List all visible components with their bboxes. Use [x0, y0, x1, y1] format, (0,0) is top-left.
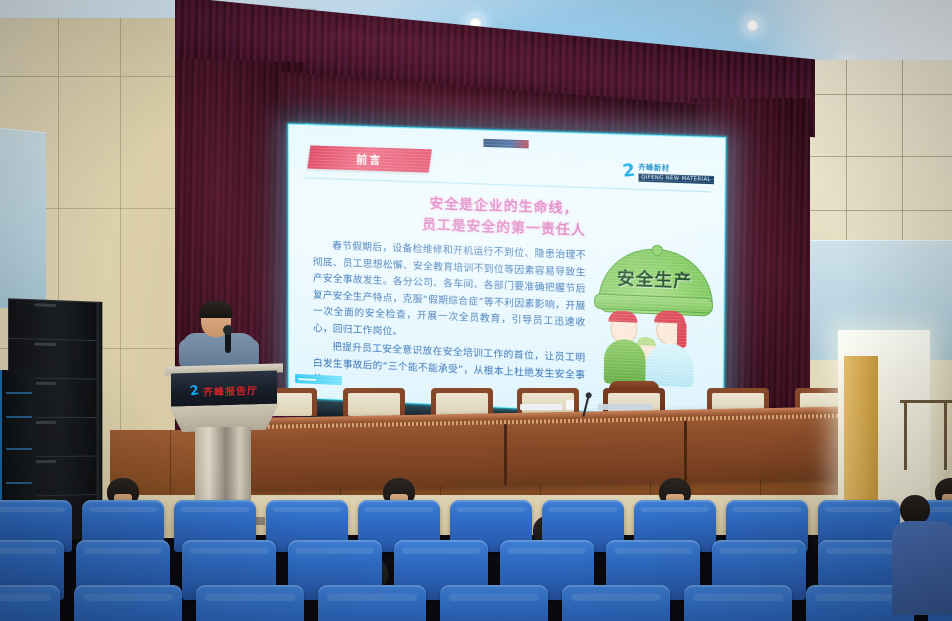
podium-label: 齐峰报告厅 — [203, 382, 258, 399]
stage-chair — [343, 388, 405, 416]
slide-watermark-badge — [295, 374, 342, 385]
conference-table — [248, 406, 888, 490]
slide-top-chip — [483, 139, 528, 149]
audience-seat[interactable] — [318, 585, 426, 621]
slide-body-text: 春节假期后，设备检维修和开机运行不到位、隐患治理不彻底、员工思想松懈、安全教育培… — [313, 238, 586, 403]
audience-seat[interactable] — [562, 585, 670, 621]
downlight — [745, 18, 760, 33]
table-paper — [598, 404, 652, 410]
speaker-cabinet — [8, 298, 98, 341]
slide-paragraph: 春节假期后，设备检维修和开机运行不到位、隐患治理不彻底、员工思想松懈、安全教育培… — [313, 238, 586, 349]
exit-door[interactable] — [844, 356, 878, 506]
family-figures — [602, 308, 707, 386]
slide-banner-title: 前言 — [356, 150, 382, 167]
audience-seat[interactable] — [0, 585, 60, 621]
acoustic-panel-left — [0, 128, 46, 313]
audience-seat[interactable] — [684, 585, 792, 621]
audience-seat[interactable] — [74, 585, 182, 621]
table-paper — [520, 404, 562, 410]
slide-company-logo: 2 齐峰新材 QIFENG NEW MATERIAL — [623, 162, 715, 185]
audience-seat[interactable] — [196, 585, 304, 621]
projection-screen: 前言 2 齐峰新材 QIFENG NEW MATERIAL 安全是企业的生命线，… — [288, 124, 726, 419]
logo-name-en: QIFENG NEW MATERIAL — [638, 173, 714, 184]
podium-logo-glyph: 2 — [189, 383, 200, 399]
safety-illustration: 安全生产 — [596, 243, 714, 389]
stage-chair — [431, 388, 493, 416]
logo-glyph: 2 — [621, 162, 636, 181]
presenter — [183, 303, 257, 373]
audience-seat[interactable] — [440, 585, 548, 621]
table-cup — [566, 400, 574, 410]
auditorium-scene: 前言 2 齐峰新材 QIFENG NEW MATERIAL 安全是企业的生命线，… — [0, 0, 952, 621]
handrail — [900, 400, 952, 470]
podium-nameplate: 2 齐峰报告厅 — [171, 371, 277, 410]
slide-section-banner: 前言 — [307, 145, 432, 172]
slide-heading: 安全是企业的生命线， 员工是安全的第一责任人 — [289, 189, 724, 247]
illustration-label: 安全生产 — [596, 263, 713, 293]
audience-member-right — [892, 495, 952, 615]
equipment-rack — [0, 370, 36, 520]
presenter-hair — [199, 301, 233, 318]
